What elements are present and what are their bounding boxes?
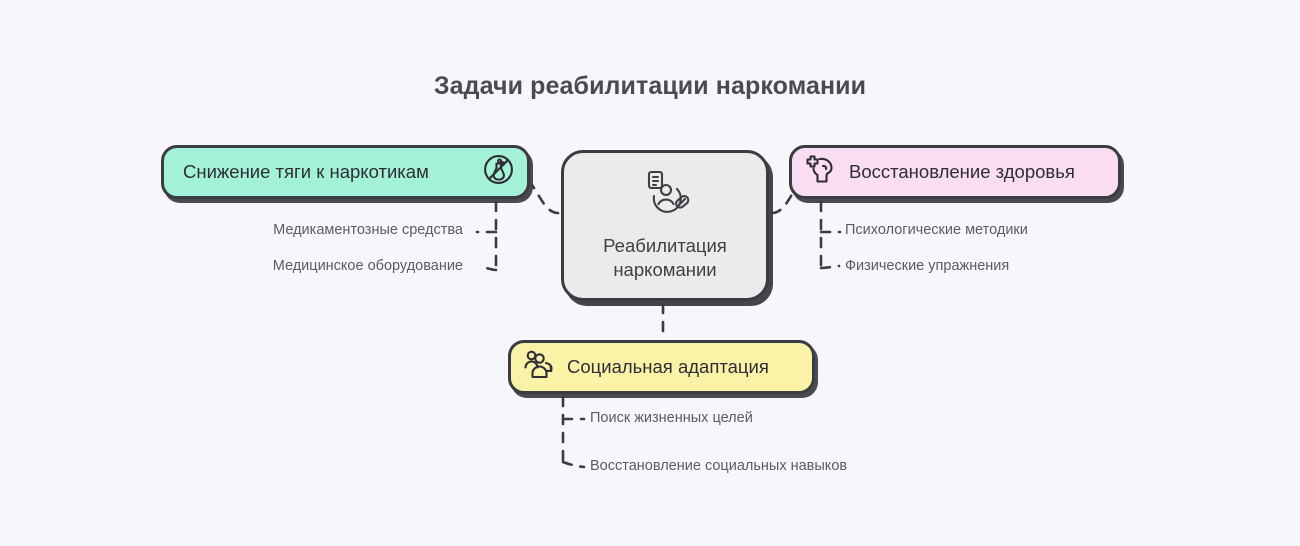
no-drugs-icon — [482, 153, 515, 191]
people-group-arrow-icon — [523, 348, 556, 386]
leaf-label-social-1: Поиск жизненных целей — [590, 410, 753, 427]
branch-social-label: Социальная адаптация — [567, 355, 769, 378]
page-title: Задачи реабилитации наркомании — [0, 72, 1300, 101]
leaf-label-social-2: Восстановление социальных навыков — [590, 458, 847, 475]
leaf-label-craving-2: Медицинское оборудование — [260, 258, 463, 275]
connector-craving-leaf-2 — [479, 266, 496, 270]
center-node[interactable]: Реабилитация наркомании — [561, 150, 769, 301]
branch-health-label: Восстановление здоровья — [849, 160, 1075, 183]
mindmap-canvas: Задачи реабилитации наркомании — [0, 0, 1300, 546]
connector-hub-to-craving — [532, 185, 558, 213]
person-document-pill-icon — [637, 169, 693, 220]
head-medical-cross-icon — [804, 153, 837, 191]
leaf-label-health-2: Физические упражнения — [845, 258, 1009, 275]
leaf-label-craving-1: Медикаментозные средства — [260, 222, 463, 239]
branch-node-craving[interactable]: Снижение тяги к наркотикам — [161, 145, 530, 199]
connector-social-leaf-2 — [563, 462, 584, 467]
leaf-label-health-1: Психологические методики — [845, 222, 1028, 239]
center-node-label: Реабилитация наркомании — [603, 234, 727, 283]
branch-node-health[interactable]: Восстановление здоровья — [789, 145, 1121, 199]
branch-craving-label: Снижение тяги к наркотикам — [183, 160, 429, 183]
branch-node-social[interactable]: Социальная адаптация — [508, 340, 815, 394]
connector-health-leaf-2 — [821, 266, 839, 268]
